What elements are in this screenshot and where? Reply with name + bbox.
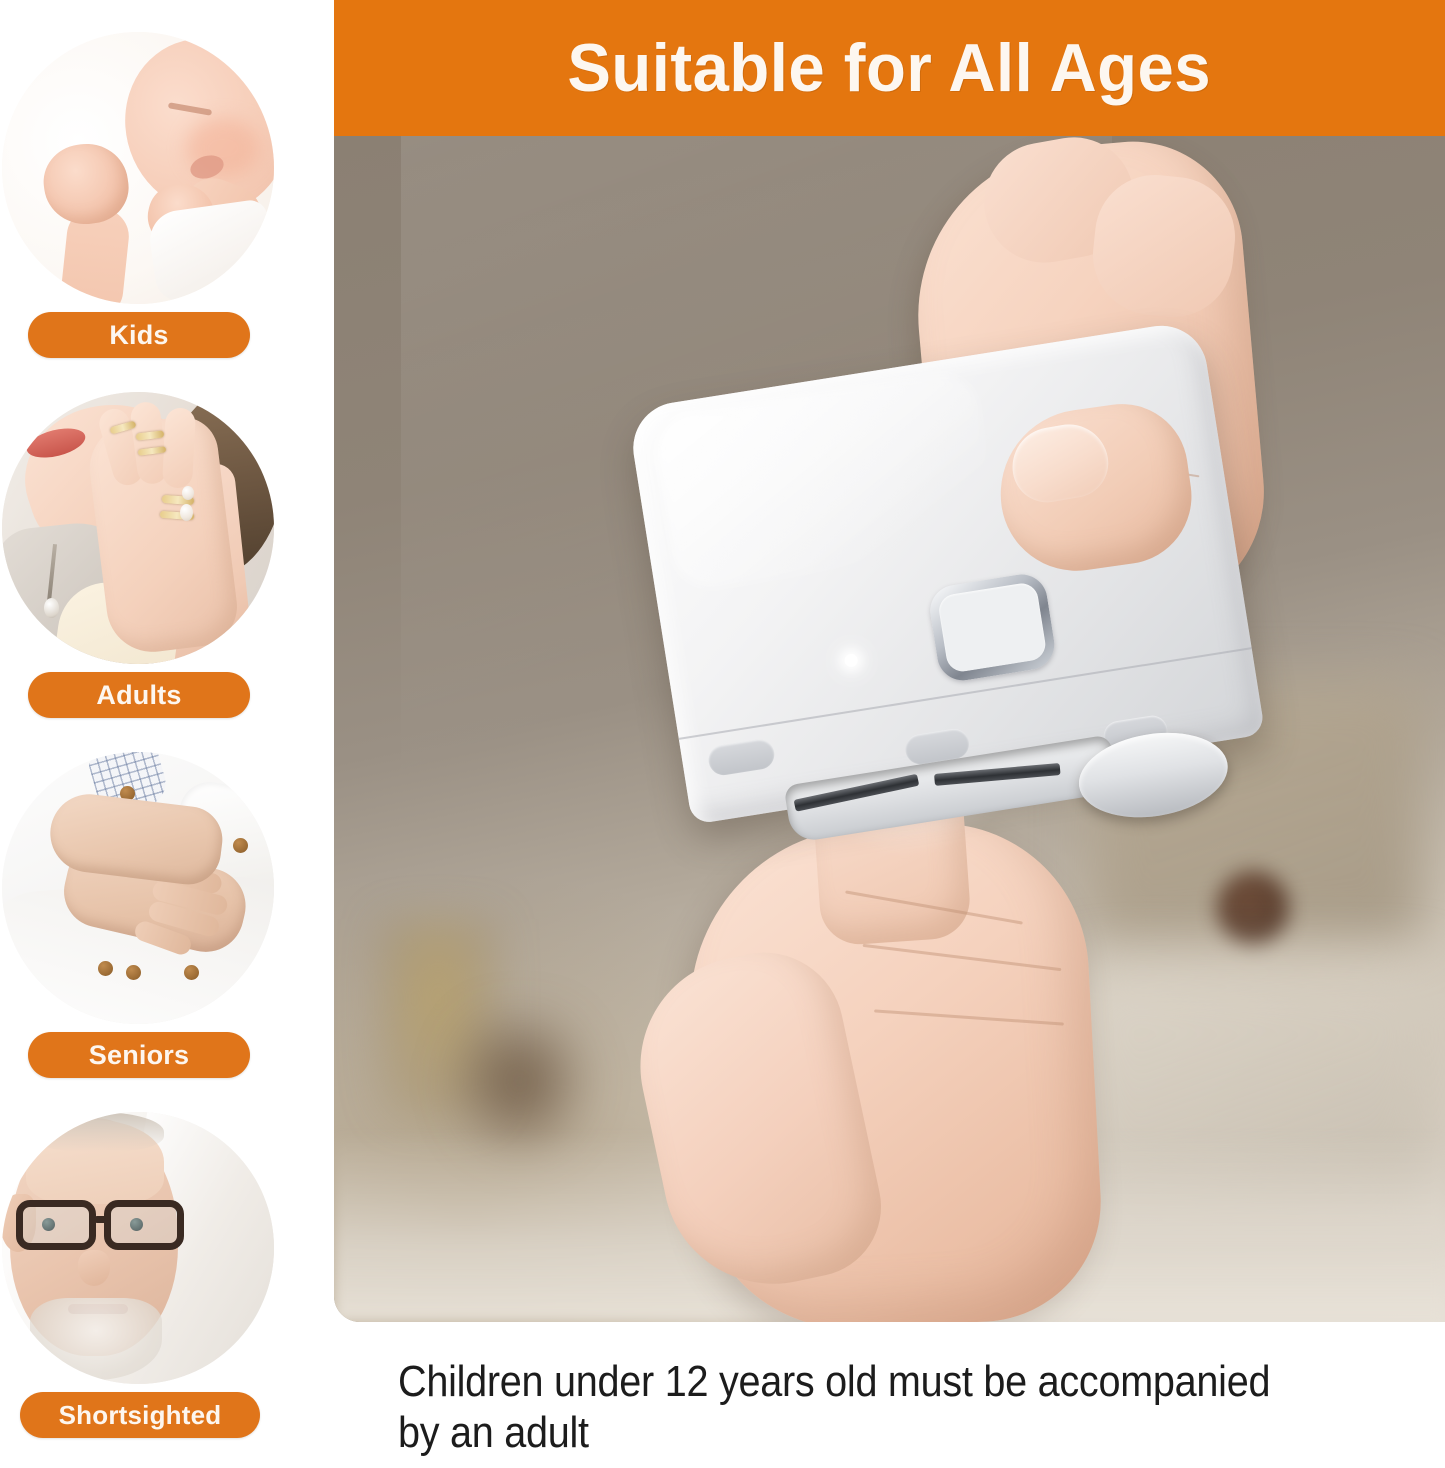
adult-photo [2, 392, 274, 664]
hero-product-photo [334, 136, 1445, 1322]
senior-photo [2, 752, 274, 1024]
persona-pill-adults: Adults [28, 672, 250, 718]
caption-block: Children under 12 years old must be acco… [398, 1356, 1388, 1458]
persona-pill-seniors: Seniors [28, 1032, 250, 1078]
shortsighted-photo [2, 1112, 274, 1384]
persona-sidebar: Kids [0, 0, 300, 1468]
persona-item-adults[interactable]: Adults [0, 392, 290, 718]
header-banner: Suitable for All Ages [334, 0, 1445, 136]
persona-label-adults: Adults [96, 680, 181, 711]
persona-item-seniors[interactable]: Seniors [0, 752, 290, 1078]
persona-item-shortsighted[interactable]: Shortsighted [0, 1112, 290, 1438]
persona-pill-shortsighted: Shortsighted [20, 1392, 260, 1438]
caption-text: Children under 12 years old must be acco… [398, 1356, 1289, 1458]
upper-hand-thumb [804, 146, 1304, 706]
page-title: Suitable for All Ages [568, 29, 1212, 107]
persona-label-kids: Kids [109, 320, 168, 351]
persona-item-kids[interactable]: Kids [0, 32, 290, 358]
persona-label-seniors: Seniors [89, 1040, 189, 1071]
product-feature-card: Kids [0, 0, 1445, 1468]
persona-label-shortsighted: Shortsighted [59, 1400, 222, 1431]
persona-pill-kids: Kids [28, 312, 250, 358]
baby-photo [2, 32, 274, 304]
